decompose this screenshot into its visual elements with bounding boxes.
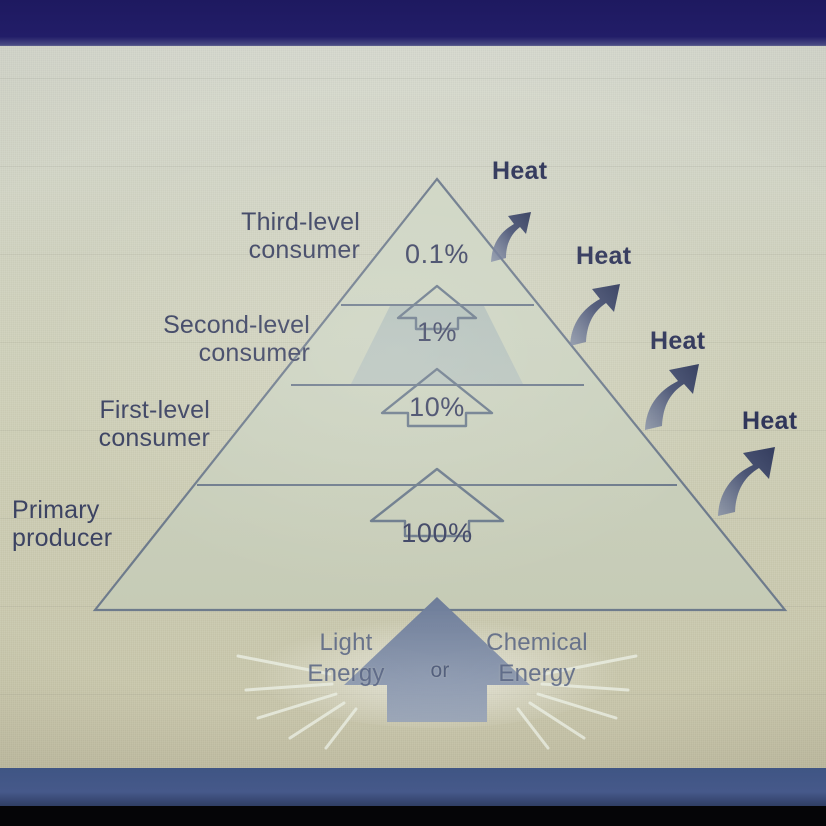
value-third-level-percent: 0.1% — [367, 239, 507, 269]
label-chemical-energy-line1: Chemical — [452, 627, 622, 658]
label-primary-producer-line1: Primary — [12, 496, 152, 524]
label-light-energy: Light Energy — [272, 627, 420, 689]
label-heat-4: Heat — [742, 407, 797, 435]
label-third-level-line2: consumer — [188, 236, 360, 264]
value-first-level-percent: 10% — [367, 392, 507, 422]
label-light-energy-line2: Energy — [272, 658, 420, 689]
screenshot-root: Third-level consumer Second-level consum… — [0, 0, 826, 826]
label-first-level-consumer: First-level consumer — [50, 396, 210, 452]
label-first-level-line2: consumer — [50, 424, 210, 452]
label-primary-producer-line2: producer — [12, 524, 152, 552]
label-second-level-line2: consumer — [110, 339, 310, 367]
label-second-level-line1: Second-level — [110, 311, 310, 339]
label-first-level-line1: First-level — [50, 396, 210, 424]
label-light-energy-line1: Light — [272, 627, 420, 658]
textbook-page: Third-level consumer Second-level consum… — [0, 46, 826, 770]
label-third-level-consumer: Third-level consumer — [188, 208, 360, 264]
label-chemical-energy: Chemical Energy — [452, 627, 622, 689]
device-bottom-bezel — [0, 768, 826, 808]
label-chemical-energy-line2: Energy — [452, 658, 622, 689]
label-second-level-consumer: Second-level consumer — [110, 311, 310, 367]
label-third-level-line1: Third-level — [188, 208, 360, 236]
value-primary-producer-percent: 100% — [367, 518, 507, 548]
heat-arrow-4 — [718, 447, 775, 516]
heat-arrow-3 — [645, 364, 699, 430]
label-heat-1: Heat — [492, 157, 547, 185]
label-heat-2: Heat — [576, 242, 631, 270]
label-heat-3: Heat — [650, 327, 705, 355]
heat-arrow-2 — [570, 284, 620, 346]
value-second-level-percent: 1% — [367, 317, 507, 347]
label-primary-producer: Primary producer — [12, 496, 152, 552]
device-top-bezel — [0, 0, 826, 47]
device-bottom-edge — [0, 806, 826, 826]
